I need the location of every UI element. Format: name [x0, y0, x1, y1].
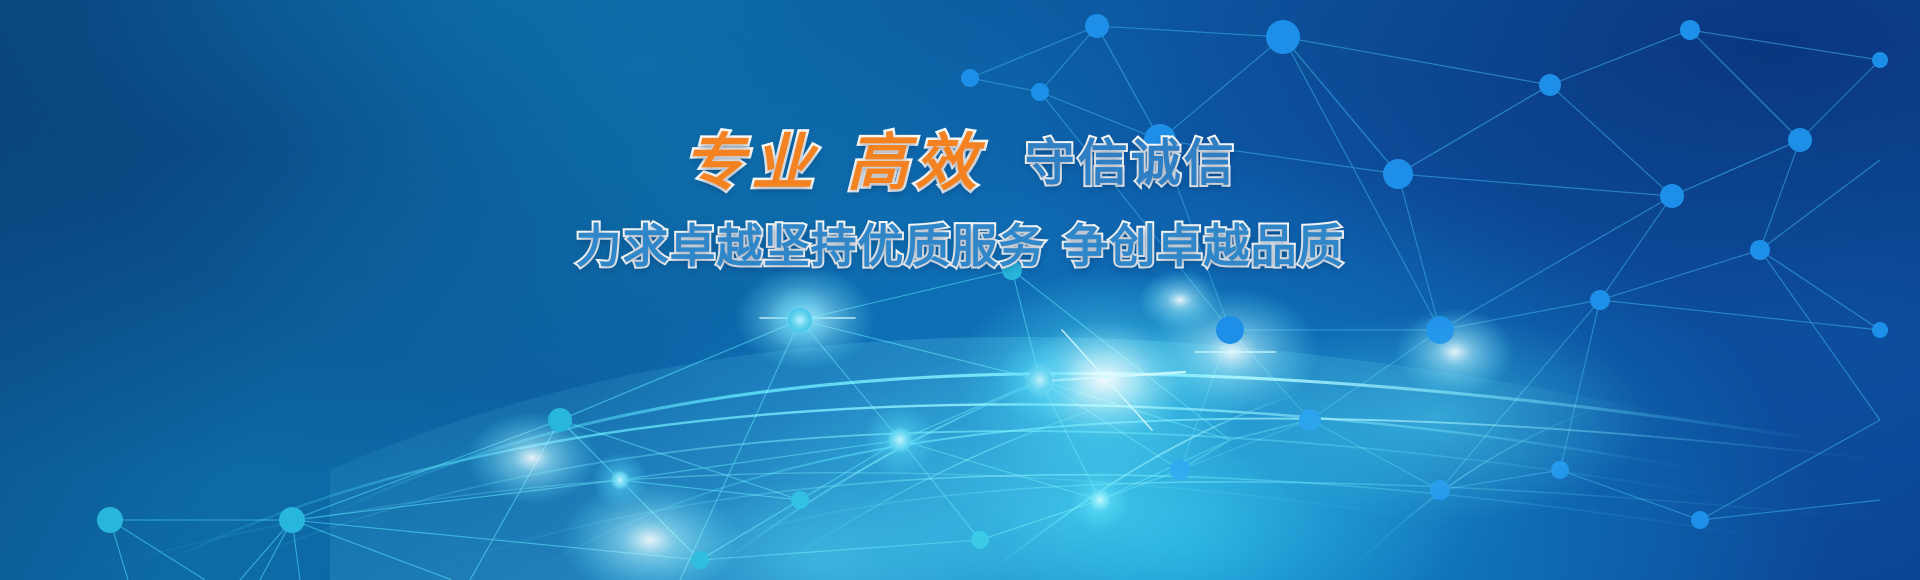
globe-core-glow [0, 0, 1920, 580]
marketing-banner: 专业 高效守信诚信 力求卓越坚持优质服务 争创卓越品质 [0, 0, 1920, 580]
